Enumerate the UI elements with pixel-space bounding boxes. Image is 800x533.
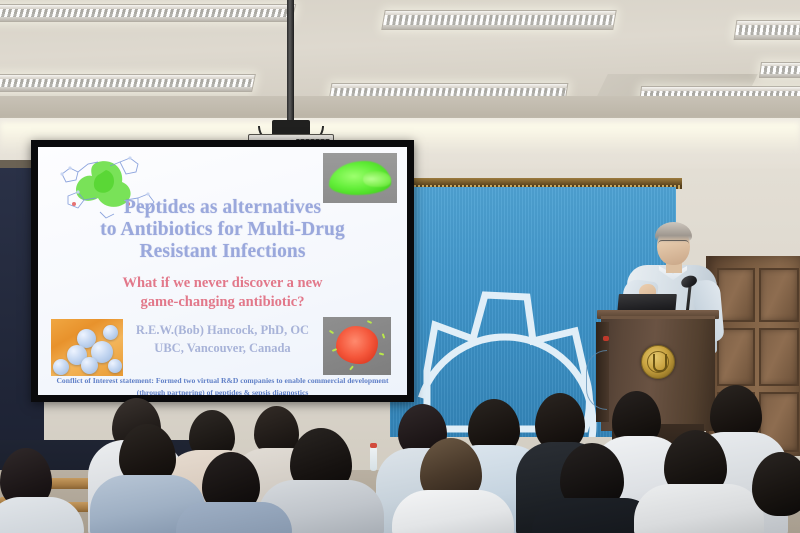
bacterium-rod bbox=[382, 333, 386, 338]
person-body bbox=[392, 490, 514, 533]
door-panel bbox=[759, 328, 799, 386]
bacterium-rod bbox=[349, 365, 354, 370]
water-bottle[interactable] bbox=[370, 447, 377, 471]
bacterium-rod bbox=[329, 330, 334, 335]
ceiling-light-fixture bbox=[381, 10, 617, 30]
bacterium-rod bbox=[367, 320, 372, 324]
indicator-light bbox=[603, 336, 609, 341]
cell-shape bbox=[336, 326, 378, 364]
person-body bbox=[176, 502, 292, 533]
podium-cable bbox=[586, 350, 607, 410]
door-panel bbox=[759, 268, 799, 322]
bacterium bbox=[81, 357, 98, 374]
bacterium-rod bbox=[379, 352, 384, 355]
slide-title: Peptides as alternatives to Antibiotics … bbox=[38, 197, 407, 264]
bacterium bbox=[53, 359, 69, 375]
green-blob-shape bbox=[363, 171, 391, 187]
conflict-of-interest-statement: Conflict of Interest statement: Formed t… bbox=[48, 375, 397, 395]
door-panel bbox=[717, 268, 755, 322]
ceiling-light-fixture bbox=[0, 74, 256, 92]
bottle-cap bbox=[370, 443, 377, 448]
person-body bbox=[634, 484, 764, 533]
ceiling-light-fixture bbox=[759, 62, 800, 78]
bacteria-micrograph bbox=[51, 319, 123, 376]
lecture-hall-photo: Peptides as alternatives to Antibiotics … bbox=[0, 0, 800, 533]
bacterium bbox=[103, 325, 118, 340]
slide-subtitle: What if we never discover a new game-cha… bbox=[38, 274, 407, 312]
institution-seal-icon bbox=[641, 345, 675, 379]
door-panel bbox=[717, 328, 755, 386]
green-protein-render bbox=[323, 153, 397, 203]
ceiling-light-fixture bbox=[734, 20, 800, 40]
projector-mount-pole bbox=[287, 0, 294, 128]
projection-screen: Peptides as alternatives to Antibiotics … bbox=[31, 140, 414, 402]
glasses-icon bbox=[658, 240, 689, 248]
presentation-slide: Peptides as alternatives to Antibiotics … bbox=[38, 147, 407, 395]
ceiling-light-fixture bbox=[0, 4, 296, 22]
seal-monogram bbox=[653, 354, 667, 372]
bacterium bbox=[108, 359, 122, 373]
immune-cell-micrograph bbox=[323, 317, 391, 375]
